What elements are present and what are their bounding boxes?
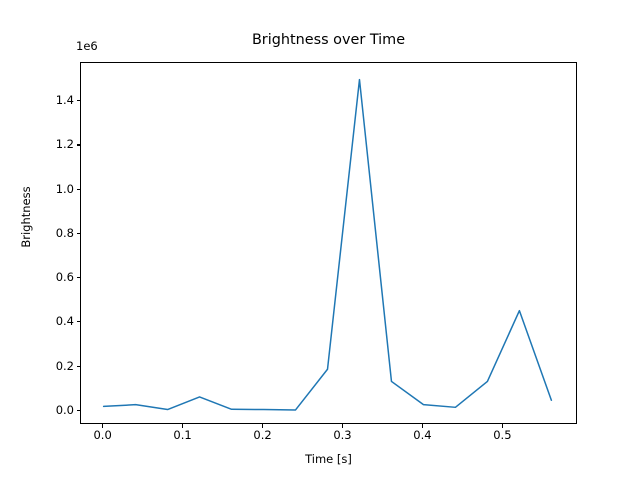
y-tick-mark bbox=[77, 277, 81, 278]
x-tick-mark bbox=[182, 424, 183, 428]
x-axis-label: Time [s] bbox=[80, 452, 577, 466]
x-tick-mark bbox=[262, 424, 263, 428]
x-tick-label: 0.1 bbox=[173, 429, 191, 442]
y-tick-label: 0.2 bbox=[56, 360, 74, 373]
y-tick-mark bbox=[77, 100, 81, 101]
x-tick-label: 0.2 bbox=[253, 429, 271, 442]
page-title: Brightness over Time bbox=[80, 32, 577, 49]
x-tick-label: 0.3 bbox=[333, 429, 351, 442]
x-tick-mark bbox=[422, 424, 423, 428]
x-tick-mark bbox=[102, 424, 103, 428]
x-axis-tick-labels: 0.00.10.20.30.40.5 bbox=[0, 429, 640, 449]
y-tick-mark bbox=[77, 410, 81, 411]
y-tick-label: 0.6 bbox=[56, 271, 74, 284]
y-axis-label: Brightness bbox=[19, 167, 33, 267]
y-tick-mark bbox=[77, 233, 81, 234]
y-tick-mark bbox=[77, 189, 81, 190]
y-axis-tick-labels: 0.00.20.40.60.81.01.21.4 bbox=[0, 0, 74, 480]
x-tick-label: 0.5 bbox=[493, 429, 511, 442]
y-tick-mark bbox=[77, 144, 81, 145]
y-tick-label: 1.0 bbox=[56, 183, 74, 196]
brightness-line bbox=[104, 80, 552, 410]
x-tick-mark bbox=[342, 424, 343, 428]
data-line-series bbox=[81, 63, 578, 425]
x-tick-label: 0.4 bbox=[413, 429, 431, 442]
matplotlib-figure: Brightness over Time 1e6 0.00.20.40.60.8… bbox=[0, 0, 640, 480]
y-tick-label: 1.4 bbox=[56, 94, 74, 107]
y-axis-offset-text: 1e6 bbox=[76, 40, 98, 53]
x-tick-mark bbox=[502, 424, 503, 428]
y-tick-label: 1.2 bbox=[56, 138, 74, 151]
plot-area bbox=[80, 62, 577, 424]
y-tick-label: 0.8 bbox=[56, 227, 74, 240]
y-tick-label: 0.0 bbox=[56, 404, 74, 417]
y-tick-mark bbox=[77, 366, 81, 367]
y-tick-label: 0.4 bbox=[56, 315, 74, 328]
y-tick-mark bbox=[77, 321, 81, 322]
x-tick-label: 0.0 bbox=[93, 429, 111, 442]
